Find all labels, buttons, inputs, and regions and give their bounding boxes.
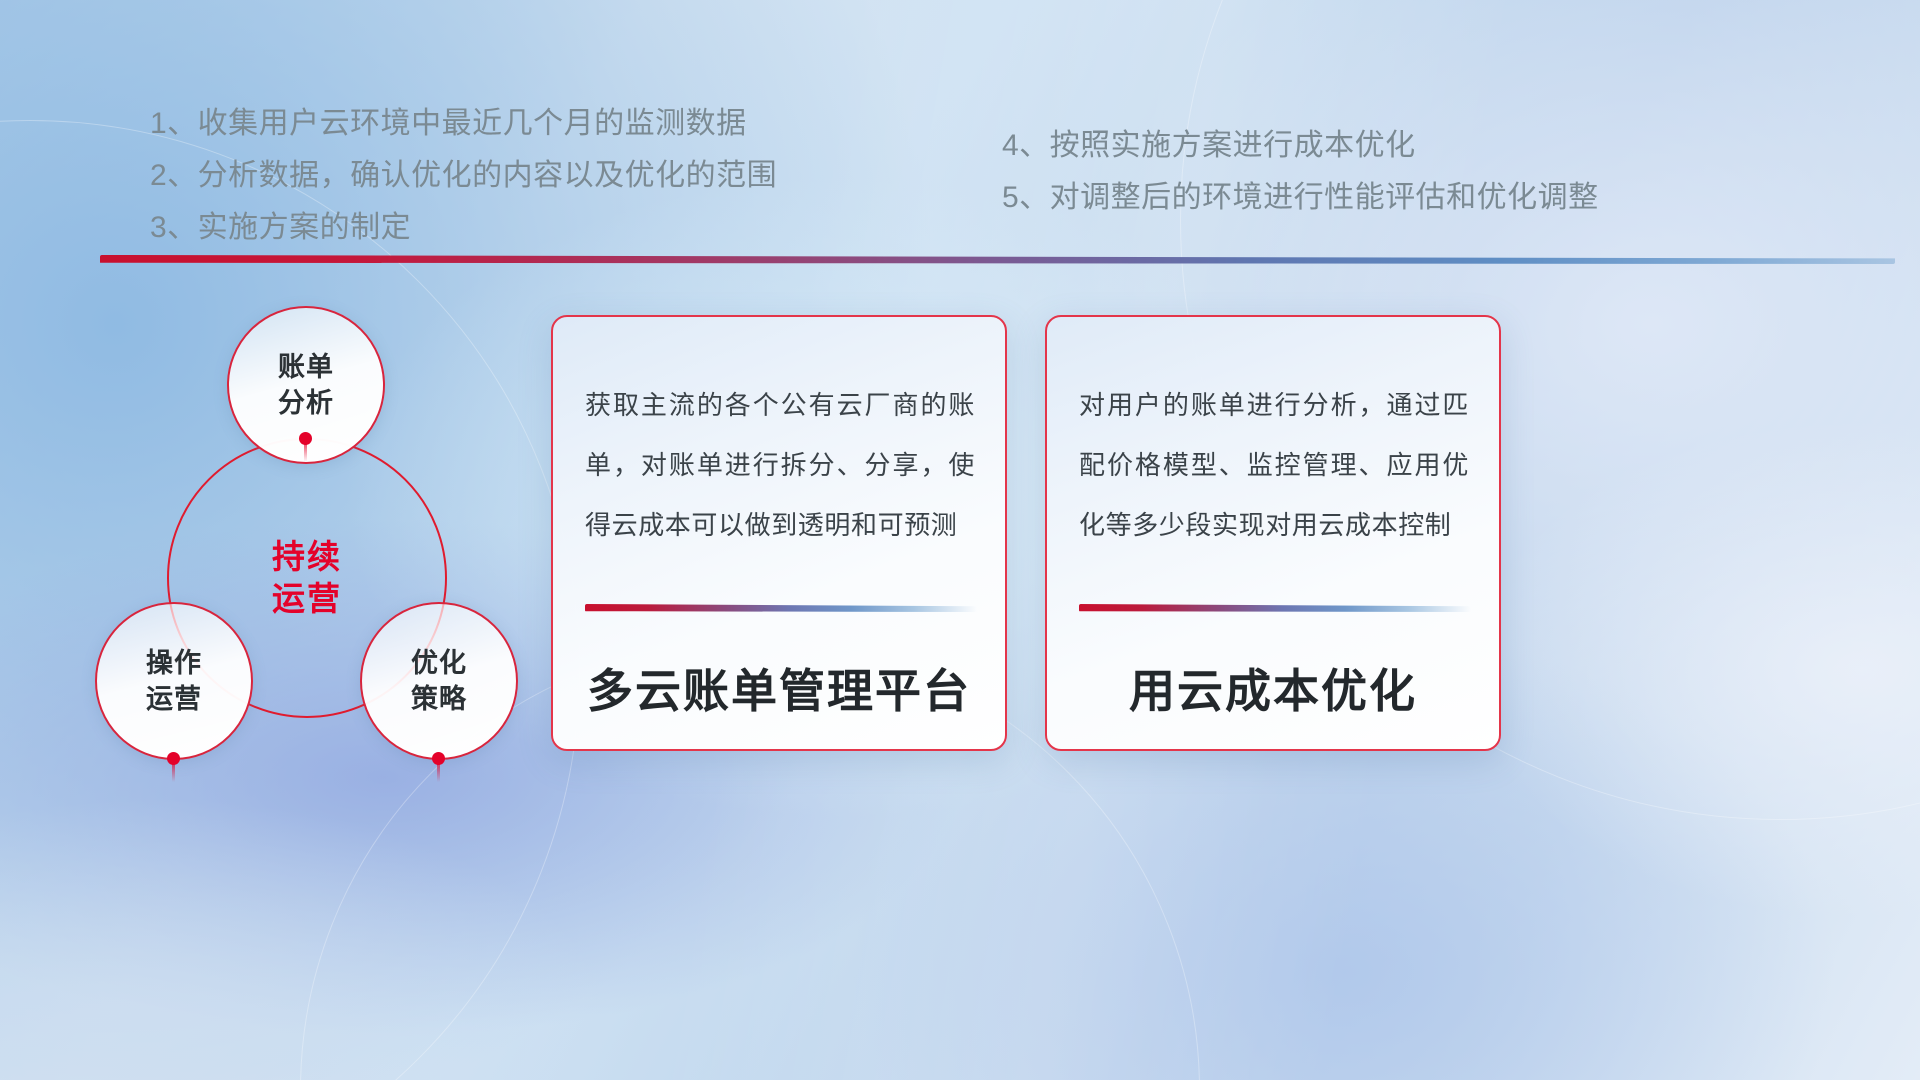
step-item-1: 1、收集用户云环境中最近几个月的监测数据 bbox=[150, 98, 777, 150]
venn-diagram: 账单 分析 操作 运营 优化 策略 持续 运营 bbox=[75, 290, 555, 790]
step-item-2: 2、分析数据，确认优化的内容以及优化的范围 bbox=[150, 150, 777, 202]
steps-column-right: 4、按照实施方案进行成本优化 5、对调整后的环境进行性能评估和优化调整 bbox=[1002, 120, 1599, 224]
card-title: 用云成本优化 bbox=[1047, 655, 1499, 721]
section-divider-gradient bbox=[100, 255, 1895, 264]
step-item-5: 5、对调整后的环境进行性能评估和优化调整 bbox=[1002, 172, 1599, 224]
venn-connector-dot-bottom-left bbox=[167, 752, 180, 765]
card-body-text: 对用户的账单进行分析，通过匹配价格模型、监控管理、应用优化等多少段实现对用云成本… bbox=[1079, 375, 1469, 555]
card-divider bbox=[585, 604, 977, 612]
venn-center-label-line1: 持续 bbox=[272, 538, 342, 575]
step-item-4: 4、按照实施方案进行成本优化 bbox=[1002, 120, 1599, 172]
section-divider bbox=[100, 255, 1895, 264]
step-item-3: 3、实施方案的制定 bbox=[150, 202, 777, 254]
venn-node-bill-analysis-label: 账单 分析 bbox=[278, 349, 334, 421]
card-multicloud-billing[interactable]: 获取主流的各个公有云厂商的账单，对账单进行拆分、分享，使得云成本可以做到透明和可… bbox=[551, 315, 1007, 751]
venn-connector-dot-bottom-right bbox=[432, 752, 445, 765]
venn-label-line1: 账单 bbox=[278, 352, 334, 382]
venn-center-label: 持续 运营 bbox=[167, 438, 447, 718]
card-title: 多云账单管理平台 bbox=[553, 655, 1005, 721]
steps-list: 1、收集用户云环境中最近几个月的监测数据 2、分析数据，确认优化的内容以及优化的… bbox=[0, 0, 1920, 250]
card-divider bbox=[1079, 604, 1471, 612]
venn-connector-dot-top bbox=[299, 432, 312, 445]
card-cloud-cost-optimization[interactable]: 对用户的账单进行分析，通过匹配价格模型、监控管理、应用优化等多少段实现对用云成本… bbox=[1045, 315, 1501, 751]
card-body-text: 获取主流的各个公有云厂商的账单，对账单进行拆分、分享，使得云成本可以做到透明和可… bbox=[585, 375, 975, 555]
venn-center-label-line2: 运营 bbox=[272, 580, 342, 617]
steps-column-left: 1、收集用户云环境中最近几个月的监测数据 2、分析数据，确认优化的内容以及优化的… bbox=[150, 98, 777, 254]
venn-label-line2: 分析 bbox=[278, 388, 334, 418]
